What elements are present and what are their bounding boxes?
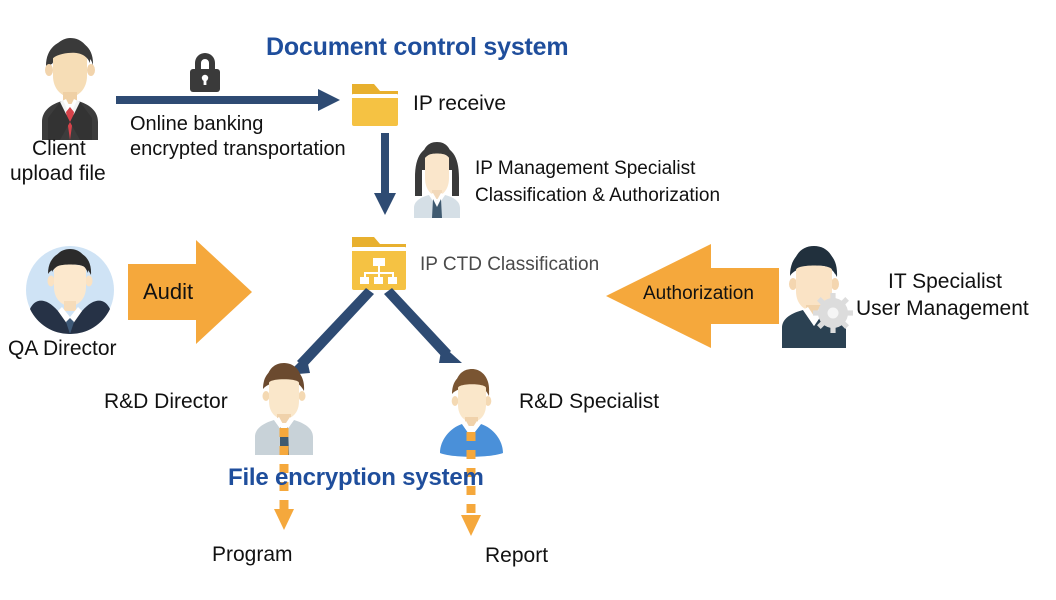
node-ip-specialist-label-line2: Classification & Authorization	[475, 185, 720, 207]
edge-authorization-label: Authorization	[643, 283, 754, 305]
edge-upload-label-line1: Online banking	[130, 113, 263, 137]
edge-upload-arrow	[116, 89, 340, 111]
node-ip-ctd-label: IP CTD Classification	[420, 254, 599, 276]
qa-director-avatar-icon	[26, 246, 114, 334]
female-specialist-avatar-icon	[414, 142, 460, 218]
node-program-label: Program	[212, 543, 293, 568]
node-rd-director-label: R&D Director	[104, 390, 228, 415]
edge-to-specialist-arrow	[384, 288, 462, 363]
node-report-label: Report	[485, 544, 548, 569]
page-title: Document control system	[266, 33, 568, 63]
subsystem-title: File encryption system	[228, 464, 484, 492]
edge-to-director-arrow	[286, 288, 374, 375]
node-it-specialist-label-line1: IT Specialist	[888, 270, 1002, 295]
rd-director-avatar-icon	[255, 363, 313, 455]
businessman-avatar-icon	[42, 38, 98, 140]
node-ip-receive-label: IP receive	[413, 92, 506, 117]
node-it-specialist-label-line2: User Management	[856, 297, 1029, 322]
node-qa-director-label: QA Director	[8, 337, 117, 362]
edge-receive-flow-arrow	[374, 133, 396, 215]
node-ip-specialist-label-line1: IP Management Specialist	[475, 158, 695, 180]
folder-hierarchy-icon	[352, 237, 406, 290]
it-specialist-avatar-icon	[782, 246, 853, 348]
node-rd-specialist-label: R&D Specialist	[519, 390, 659, 415]
diagram-canvas: Document control system Online banking e…	[0, 0, 1056, 600]
padlock-icon	[190, 53, 220, 92]
folder-icon	[352, 84, 398, 126]
edge-audit-label: Audit	[143, 279, 193, 305]
edge-upload-label-line2: encrypted transportation	[130, 138, 346, 162]
node-client-label-line2: upload file	[10, 162, 106, 187]
rd-specialist-avatar-icon	[440, 369, 503, 457]
node-client-label-line1: Client	[32, 137, 86, 162]
